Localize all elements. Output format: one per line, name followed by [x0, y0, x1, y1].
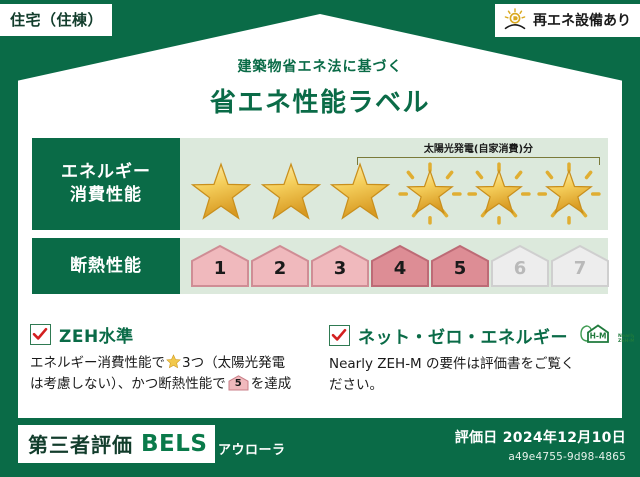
nze-check-header: ネット・ゼロ・エネルギー H-M Nearly ZEH-M: [329, 322, 610, 348]
evaluation-date: 評価日 2024年12月10日: [455, 427, 626, 447]
bels-label: BELS: [141, 431, 207, 457]
nze-desc-line1: Nearly ZEH-M の要件は評価書をご覧く: [329, 356, 575, 372]
zeh-desc-part1: エネルギー消費性能で: [30, 355, 165, 371]
nze-desc-line2: ださい。: [329, 377, 383, 393]
inline-house-value: 5: [228, 376, 249, 392]
dwelling-type-tag: 住宅（住棟）: [0, 4, 112, 36]
renewable-badge-label: 再エネ設備あり: [533, 10, 631, 30]
nze-checkbox[interactable]: [329, 325, 350, 346]
insulation-grade-value: 6: [490, 258, 550, 279]
insulation-performance-label: 断熱性能: [32, 238, 180, 294]
inline-house-badge: 5: [228, 375, 249, 391]
zeh-standard-check: ZEH水準 エネルギー消費性能で3つ（太陽光発電 は考慮しない）、かつ断熱性能で…: [30, 322, 311, 396]
energy-performance-row: エネルギー 消費性能 太陽光発電(自家消費)分: [32, 138, 608, 230]
insulation-grade-3: 3: [310, 244, 370, 288]
title-subtitle: 建築物省エネ法に基づく: [0, 56, 640, 76]
check-icon: [32, 326, 48, 342]
star-icon-sparkle: [536, 161, 602, 225]
star-icon: [188, 161, 254, 225]
evaluation-uid: a49e4755-9d98-4865: [508, 451, 626, 463]
label-title: 建築物省エネ法に基づく 省エネ性能ラベル: [0, 56, 640, 119]
energy-performance-body: 太陽光発電(自家消費)分: [180, 138, 608, 230]
energy-star-rating: [188, 160, 602, 226]
net-zero-energy-check: ネット・ゼロ・エネルギー H-M Nearly ZEH-M Nearly ZEH…: [329, 322, 610, 396]
zeh-desc-stars: 3つ（太陽光発電: [182, 355, 285, 371]
insulation-grade-7: 7: [550, 244, 610, 288]
star-icon-sparkle: [397, 161, 463, 225]
insulation-grade-value: 2: [250, 258, 310, 279]
zeh-checkbox[interactable]: [30, 324, 51, 345]
insulation-grade-value: 5: [430, 258, 490, 279]
solar-bracket-label: 太陽光発電(自家消費)分: [424, 140, 533, 155]
star-icon-sparkle: [466, 161, 532, 225]
insulation-grade-value: 1: [190, 258, 250, 279]
energy-label-line1: エネルギー: [61, 161, 151, 184]
insulation-grade-1: 1: [190, 244, 250, 288]
zeh-check-title: ZEH水準: [59, 322, 134, 347]
insulation-grade-2: 2: [250, 244, 310, 288]
check-icon: [331, 327, 347, 343]
insulation-grade-5: 5: [430, 244, 490, 288]
energy-label-line2: 消費性能: [70, 184, 142, 207]
owner-name: アウローラ: [218, 439, 286, 458]
zeh-m-logo-caption2: ZEH-M: [618, 338, 634, 344]
insulation-grade-value: 4: [370, 258, 430, 279]
insulation-grade-4: 4: [370, 244, 430, 288]
zeh-check-header: ZEH水準: [30, 322, 311, 347]
insulation-grade-value: 3: [310, 258, 370, 279]
star-icon: [327, 161, 393, 225]
insulation-grade-value: 7: [550, 258, 610, 279]
renewable-equipment-badge: 再エネ設備あり: [495, 4, 640, 37]
bels-certification-box: 第三者評価 BELS: [18, 425, 215, 463]
zeh-desc-part2: は考慮しない）、かつ断熱性能で: [30, 376, 226, 392]
inline-star-icon: [166, 354, 181, 369]
sun-icon: [502, 8, 528, 32]
nze-check-title: ネット・ゼロ・エネルギー: [358, 323, 568, 348]
zeh-desc-part3: を達成: [251, 376, 292, 392]
zeh-m-logo-text: H-M: [590, 332, 607, 341]
label-footer: 第三者評価 BELS アウローラ 評価日 2024年12月10日 a49e475…: [0, 418, 640, 477]
nze-check-description: Nearly ZEH-M の要件は評価書をご覧く ださい。: [329, 354, 610, 396]
insulation-performance-body: 1234567: [180, 238, 608, 294]
certification-checks: ZEH水準 エネルギー消費性能で3つ（太陽光発電 は考慮しない）、かつ断熱性能で…: [30, 322, 610, 396]
zeh-m-logo-icon: H-M Nearly ZEH-M: [578, 322, 634, 348]
energy-label: 住宅（住棟） 再エネ設備あり 建築物省エネ法に基づく 省エネ性能ラベル エネルギ…: [0, 0, 640, 477]
title-main: 省エネ性能ラベル: [0, 82, 640, 119]
star-icon: [258, 161, 324, 225]
insulation-performance-row: 断熱性能 1234567: [32, 238, 608, 294]
third-party-label: 第三者評価: [28, 429, 133, 458]
energy-performance-label: エネルギー 消費性能: [32, 138, 180, 230]
insulation-grade-scale: 1234567: [190, 242, 600, 290]
insulation-grade-6: 6: [490, 244, 550, 288]
zeh-check-description: エネルギー消費性能で3つ（太陽光発電 は考慮しない）、かつ断熱性能で5を達成: [30, 353, 311, 395]
